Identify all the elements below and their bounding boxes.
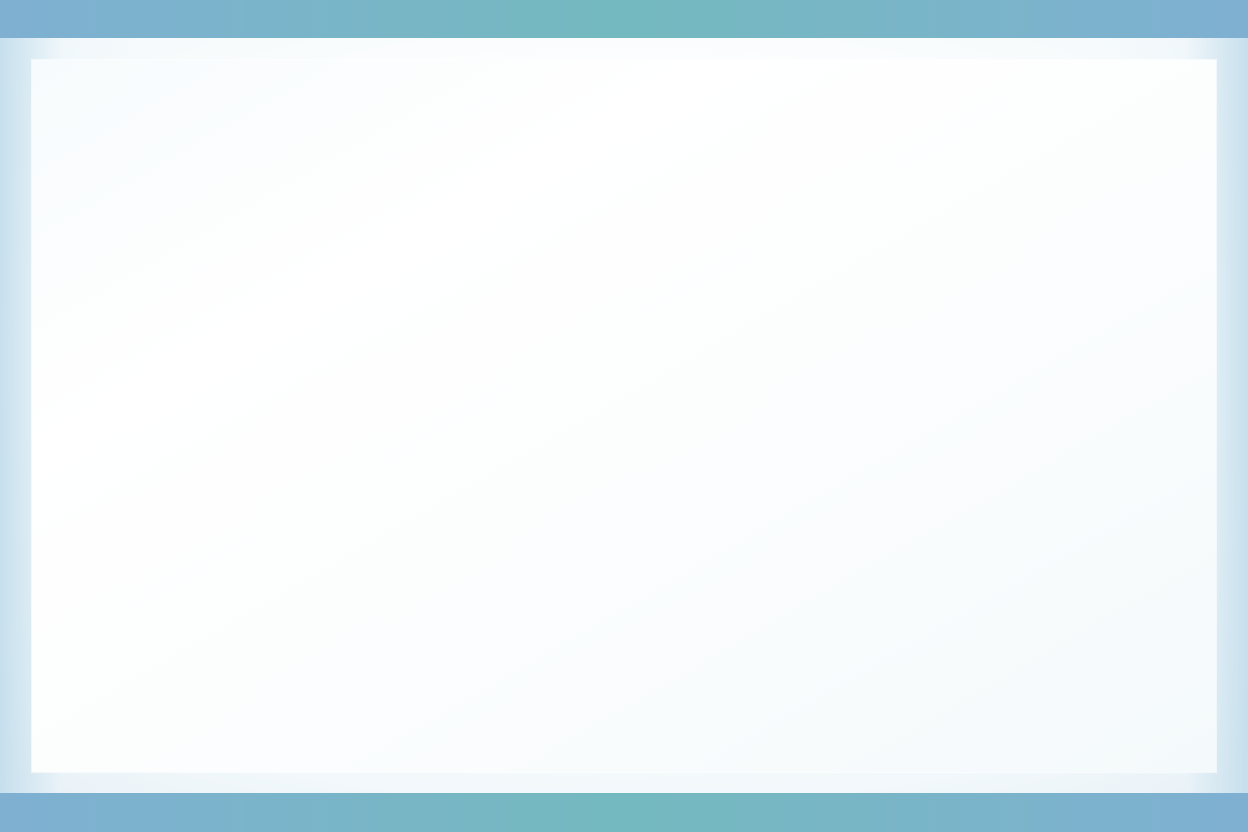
- poster-card: [32, 60, 1216, 772]
- poster-frame: THYROID WELLNESS BENEFITS: [0, 0, 1248, 832]
